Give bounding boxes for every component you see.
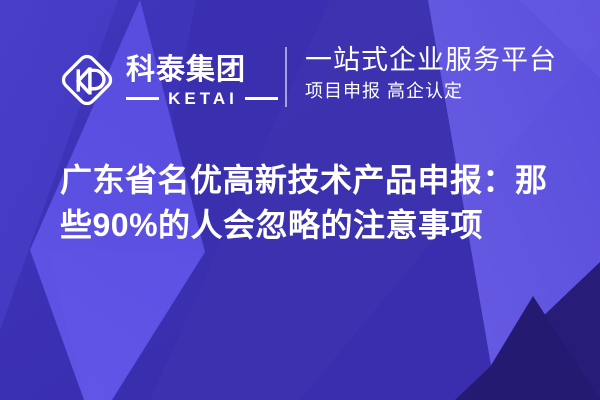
brand-name-en: KETAI <box>159 90 245 108</box>
slogan-main: 一站式企业服务平台 <box>305 44 575 77</box>
promotional-banner: 科泰集团 KETAI 一站式企业服务平台 项目申报 高企认定 广东省名优高新技术… <box>0 0 600 400</box>
headline: 广东省名优高新技术产品申报：那 些90%的人会忽略的注意事项 <box>60 158 550 248</box>
brand-dash-right-icon <box>245 97 278 100</box>
brand-name-en-row: KETAI <box>126 90 278 108</box>
headline-line-2: 些90%的人会忽略的注意事项 <box>60 203 550 248</box>
vertical-divider <box>285 47 287 107</box>
brand-text-block: 科泰集团 KETAI <box>126 47 278 113</box>
headline-line-1: 广东省名优高新技术产品申报：那 <box>60 158 550 203</box>
slogan-sub: 项目申报 高企认定 <box>305 79 575 104</box>
brand-name-cn: 科泰集团 <box>126 53 278 87</box>
brand-lockup: 科泰集团 KETAI <box>56 42 278 118</box>
diamond-kd-monogram-icon <box>56 49 118 111</box>
slogan-block: 一站式企业服务平台 项目申报 高企认定 <box>305 44 575 104</box>
brand-dash-left-icon <box>126 97 159 100</box>
